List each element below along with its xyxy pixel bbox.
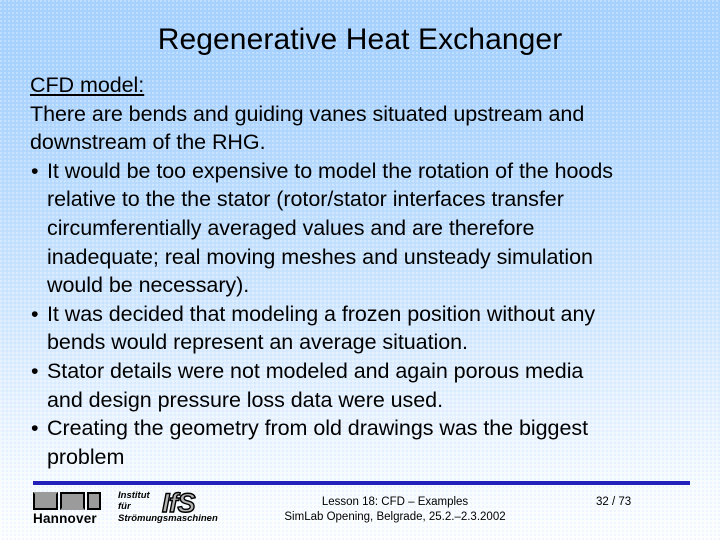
bullet-text: It would be too expensive to model the r…	[47, 159, 613, 183]
body-heading: CFD model:	[30, 71, 144, 100]
bullet-text: problem	[30, 443, 702, 472]
bullet-text: circumferentially averaged values and ar…	[30, 214, 702, 243]
uni-block-i-icon	[87, 492, 101, 510]
ifs-monogram-icon: IfS	[162, 488, 195, 519]
bullet-text: and design pressure loss data were used.	[30, 386, 702, 415]
bullet-item: • It would be too expensive to model the…	[30, 157, 702, 186]
bullet-item: • Stator details were not modeled and ag…	[30, 357, 702, 386]
footer-lesson-line: Lesson 18: CFD – Examples	[230, 495, 560, 510]
footer-center-text: Lesson 18: CFD – Examples SimLab Opening…	[230, 495, 560, 525]
slide-title: Regenerative Heat Exchanger	[0, 22, 720, 58]
bullet-text: It was decided that modeling a frozen po…	[47, 302, 595, 326]
ifs-line-fuer: für	[118, 501, 131, 512]
footer-divider	[33, 481, 690, 485]
bullet-text: Creating the geometry from old drawings …	[47, 416, 588, 440]
bullet-text: bends would represent an average situati…	[30, 328, 702, 357]
bullet-marker-icon: •	[31, 157, 38, 186]
page-number: 32 / 73	[596, 496, 686, 508]
body-paragraph-line: There are bends and guiding vanes situat…	[30, 100, 702, 129]
body-paragraph-line: downstream of the RHG.	[30, 128, 702, 157]
bullet-marker-icon: •	[31, 357, 38, 386]
uni-wordmark: Hannover	[33, 511, 97, 526]
body-heading-row: CFD model:	[30, 71, 702, 100]
bullet-text: relative to the the stator (rotor/stator…	[30, 185, 702, 214]
uni-block-u-icon	[33, 492, 58, 510]
ifs-line-institut: Institut	[118, 490, 150, 501]
bullet-text: Stator details were not modeled and agai…	[47, 359, 583, 383]
slide-footer: Hannover Institut für Strömungsmaschinen…	[0, 486, 720, 540]
bullet-item: • It was decided that modeling a frozen …	[30, 300, 702, 329]
uni-block-n-icon	[60, 492, 85, 510]
bullet-marker-icon: •	[31, 414, 38, 443]
uni-hannover-logo: Hannover	[33, 492, 111, 528]
slide-body: CFD model: There are bends and guiding v…	[30, 71, 702, 471]
uni-block-letters-icon	[33, 492, 111, 510]
bullet-text: would be necessary).	[30, 271, 702, 300]
ifs-institute-logo: Institut für Strömungsmaschinen IfS	[118, 490, 223, 528]
bullet-item: • Creating the geometry from old drawing…	[30, 414, 702, 443]
footer-event-line: SimLab Opening, Belgrade, 25.2.–2.3.2002	[230, 510, 560, 525]
slide-canvas: Regenerative Heat Exchanger CFD model: T…	[0, 0, 720, 540]
bullet-text: inadequate; real moving meshes and unste…	[30, 243, 702, 272]
bullet-marker-icon: •	[31, 300, 38, 329]
